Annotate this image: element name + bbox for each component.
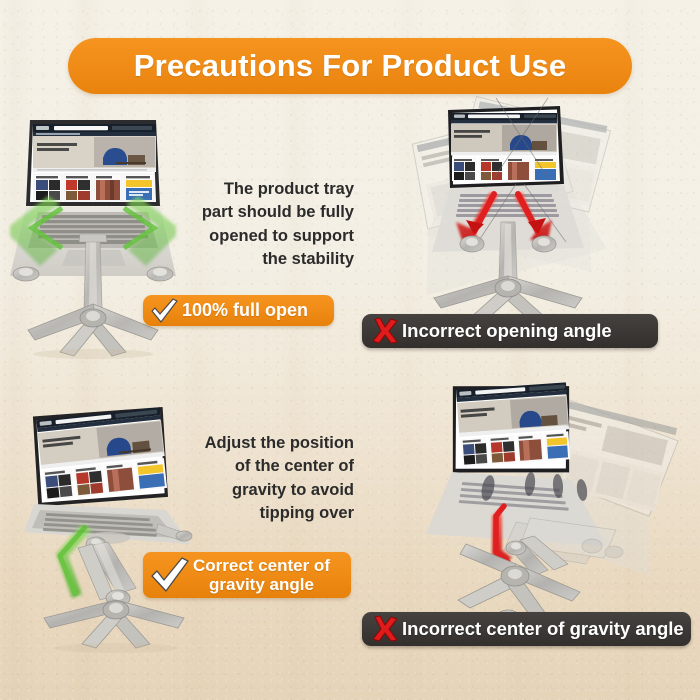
stand-x-base [28, 304, 158, 356]
badge-full-open: 100% full open [143, 295, 334, 326]
x-icon [370, 317, 400, 345]
badge-incorrect-center-of-gravity-label: Incorrect center of gravity angle [402, 618, 684, 640]
stand-arms [78, 537, 136, 606]
badge-incorrect-center-of-gravity: Incorrect center of gravity angle [362, 612, 691, 646]
caption-tray-opening: The product tray part should be fully op… [172, 178, 354, 272]
badge-incorrect-opening-angle-label: Incorrect opening angle [402, 320, 612, 342]
laptop-screen [26, 120, 160, 206]
badge-correct-center-of-gravity-label: Correct center of gravity angle [193, 556, 330, 595]
badge-correct-center-of-gravity: Correct center of gravity angle [143, 552, 351, 598]
stand-column [499, 222, 517, 278]
laptop-screen-main [447, 378, 575, 480]
photo-incorrect-opening-angle [398, 92, 694, 324]
badge-incorrect-opening-angle: Incorrect opening angle [362, 314, 658, 348]
check-icon [149, 298, 179, 324]
page-title: Precautions For Product Use [134, 48, 567, 84]
laptop-keyboard-base [24, 504, 192, 544]
header-banner: Precautions For Product Use [68, 38, 632, 94]
check-icon [149, 556, 191, 594]
infographic-page: Precautions For Product Use The product … [0, 0, 700, 700]
stand-x-base [44, 600, 184, 648]
x-icon [370, 615, 400, 643]
badge-full-open-label: 100% full open [182, 300, 308, 321]
laptop-screen [29, 403, 172, 510]
caption-center-of-gravity: Adjust the position of the center of gra… [168, 432, 354, 526]
